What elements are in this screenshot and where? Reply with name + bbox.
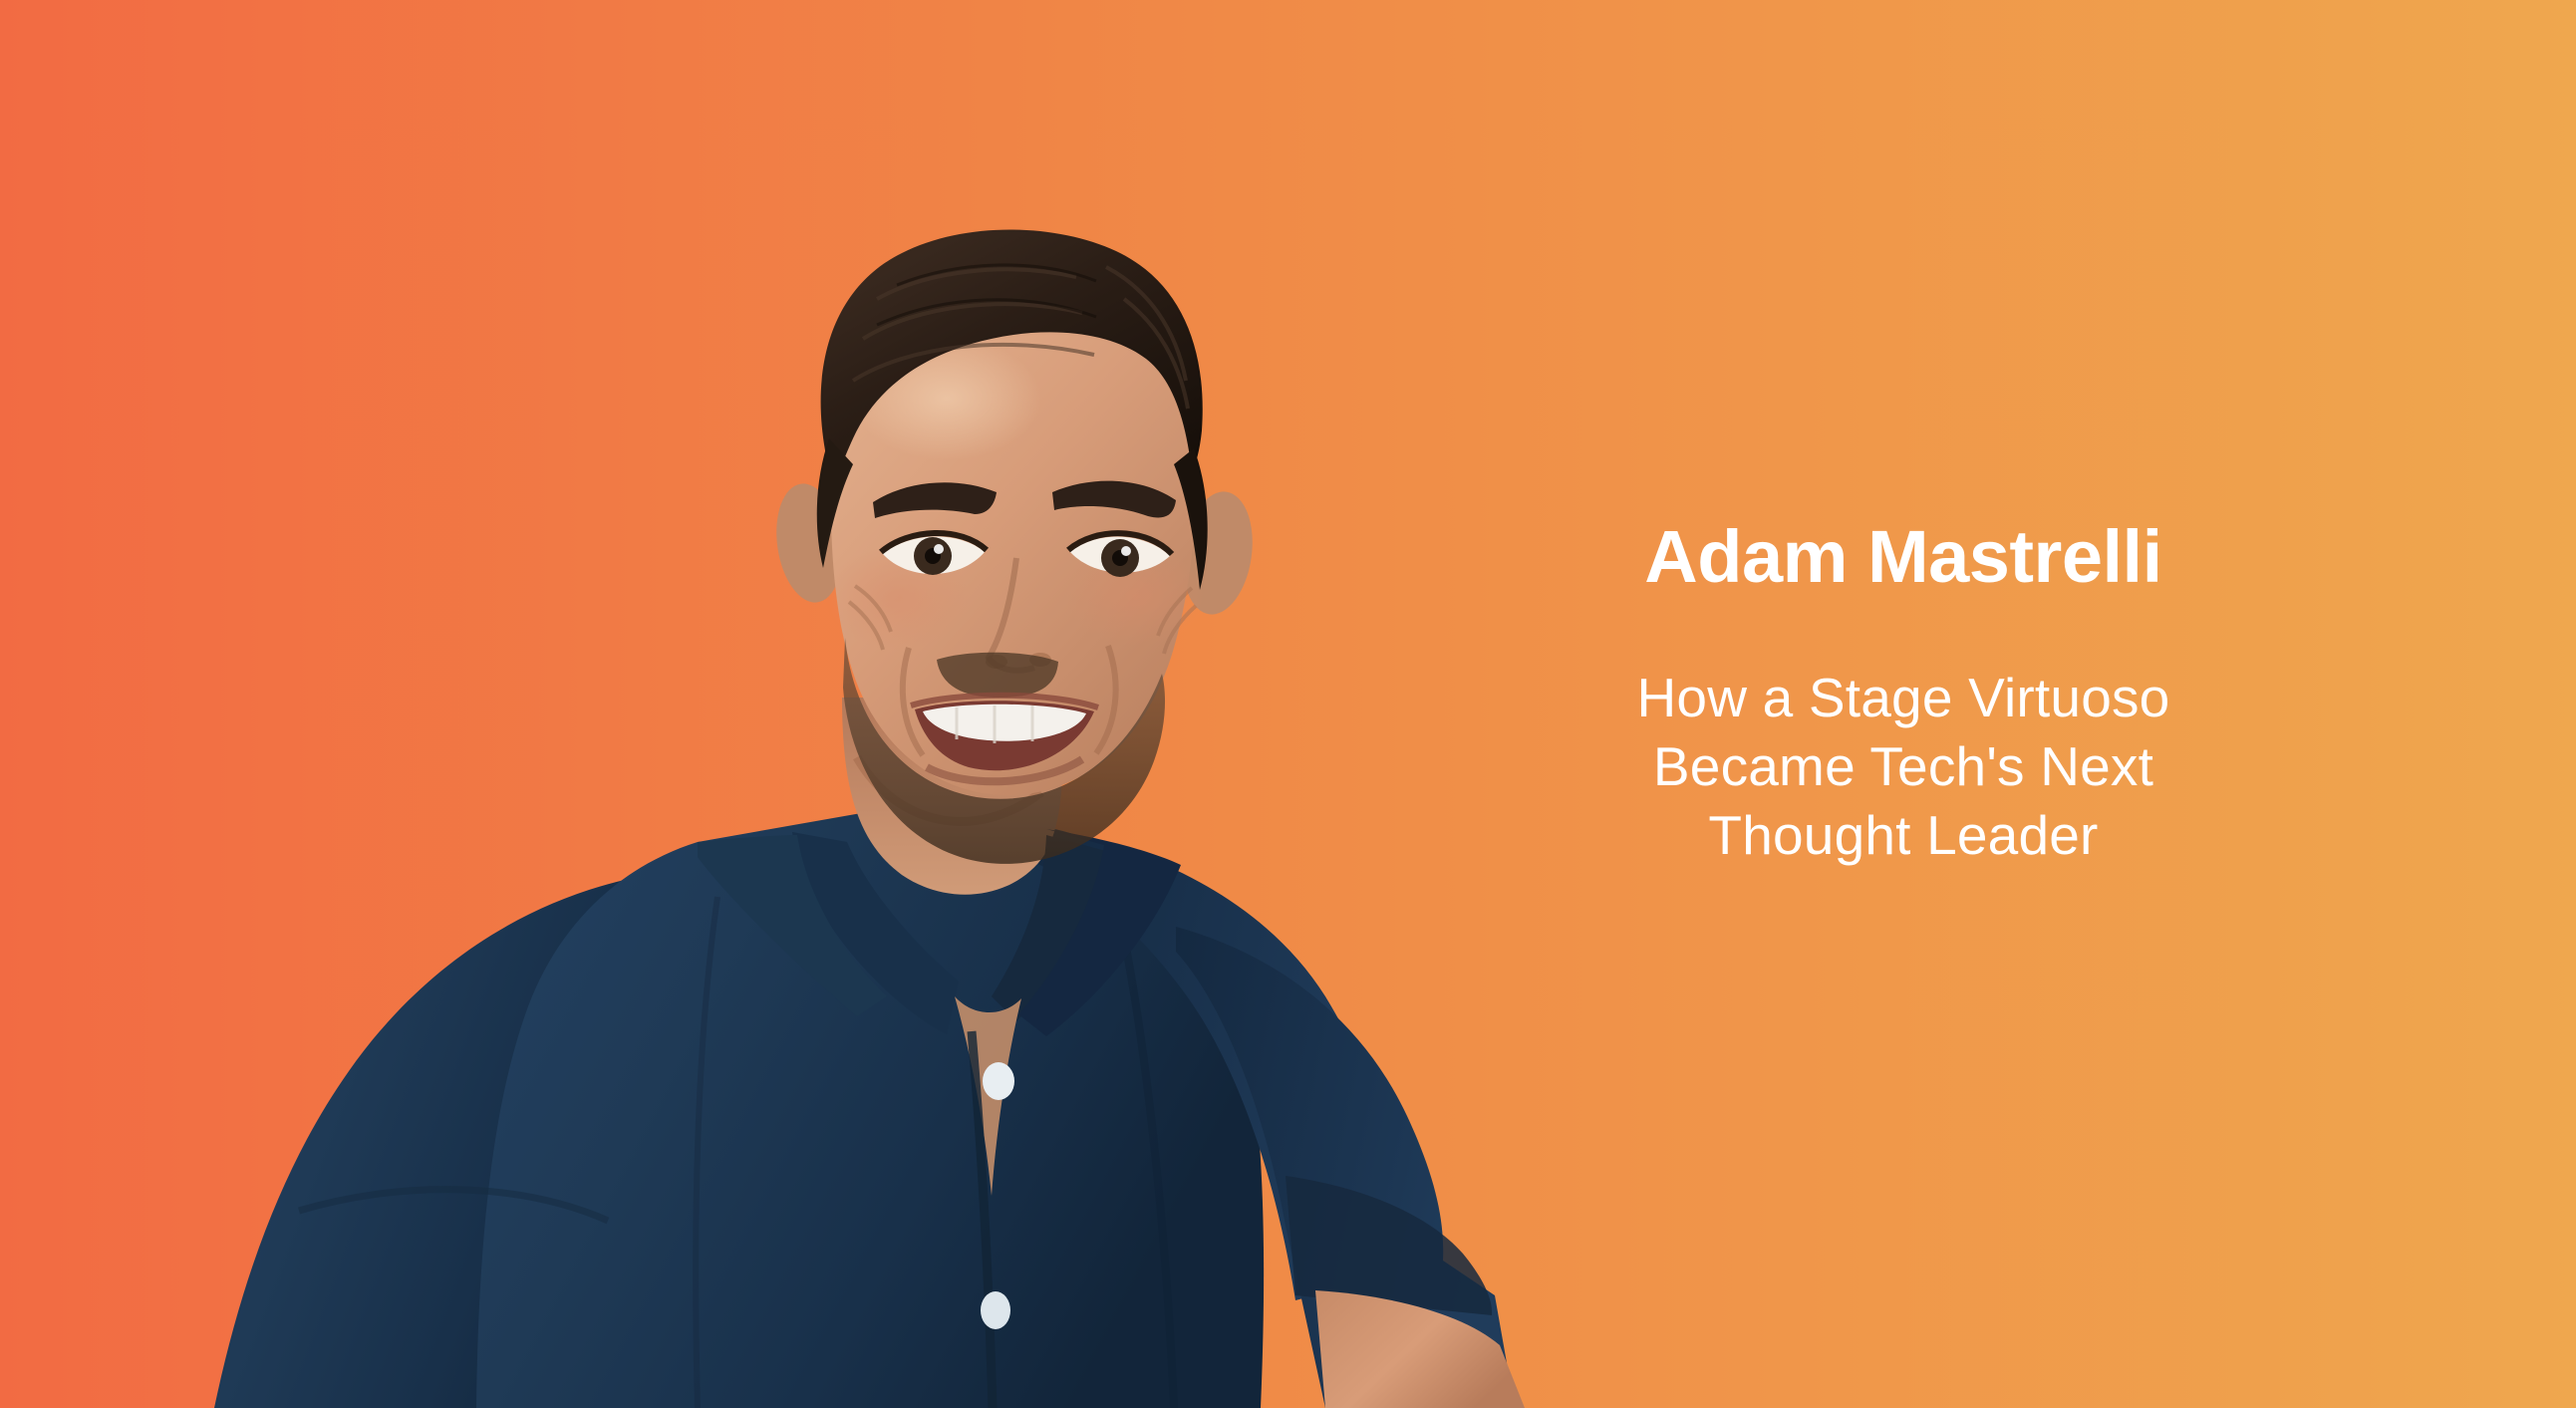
tagline-line-3: Thought Leader xyxy=(1510,801,2297,870)
tagline-line-1: How a Stage Virtuoso xyxy=(1510,664,2297,732)
speaker-name: Adam Mastrelli xyxy=(1510,518,2297,596)
speaker-text-block: Adam Mastrelli How a Stage Virtuoso Beca… xyxy=(1510,518,2297,871)
speaker-announcement-banner: Adam Mastrelli How a Stage Virtuoso Beca… xyxy=(0,0,2576,1408)
tagline-line-2: Became Tech's Next xyxy=(1510,732,2297,801)
